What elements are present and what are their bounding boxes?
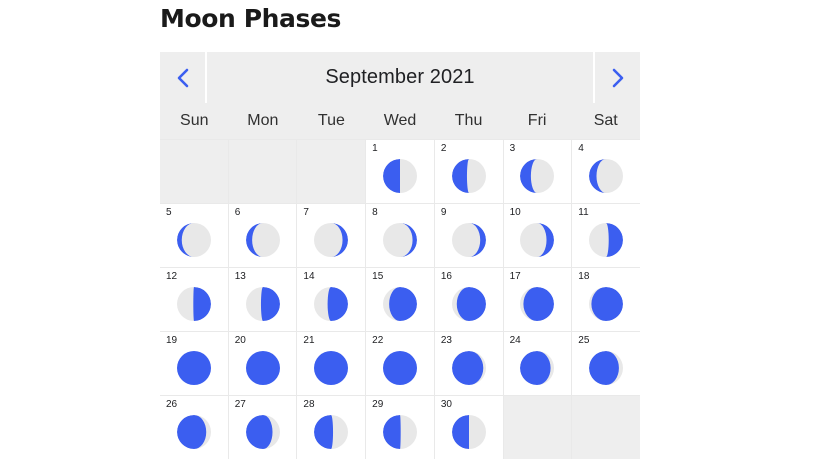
weekday-wed: Wed xyxy=(366,103,435,139)
moon-phase-icon xyxy=(160,412,228,452)
day-cell-empty xyxy=(160,140,228,203)
next-month-button[interactable] xyxy=(593,52,640,103)
day-number: 10 xyxy=(510,208,521,218)
day-number: 19 xyxy=(166,336,177,346)
day-cell[interactable]: 26 xyxy=(160,396,228,459)
day-cell[interactable]: 17 xyxy=(504,268,572,331)
chevron-right-icon xyxy=(610,66,626,90)
day-cell[interactable]: 10 xyxy=(504,204,572,267)
day-cell[interactable]: 18 xyxy=(572,268,640,331)
moon-phase-icon xyxy=(229,220,297,260)
day-cell-empty xyxy=(229,140,297,203)
weekday-header-row: SunMonTueWedThuFriSat xyxy=(160,103,640,139)
day-cell[interactable]: 28 xyxy=(297,396,365,459)
moon-phase-icon xyxy=(229,284,297,324)
weekday-sun: Sun xyxy=(160,103,229,139)
moon-phase-icon xyxy=(160,284,228,324)
day-cell[interactable]: 19 xyxy=(160,332,228,395)
day-cell-empty xyxy=(572,396,640,459)
day-number: 26 xyxy=(166,400,177,410)
moon-phase-icon xyxy=(366,348,434,388)
moon-phase-icon xyxy=(366,220,434,260)
moon-phase-icon xyxy=(366,284,434,324)
day-number: 13 xyxy=(235,272,246,282)
moon-phase-icon xyxy=(504,220,572,260)
day-cell-empty xyxy=(504,396,572,459)
weekday-fri: Fri xyxy=(503,103,572,139)
day-cell[interactable]: 7 xyxy=(297,204,365,267)
day-cell[interactable]: 6 xyxy=(229,204,297,267)
moon-phase-icon xyxy=(297,348,365,388)
weekday-mon: Mon xyxy=(229,103,298,139)
moon-phase-icon xyxy=(366,412,434,452)
moon-phase-icon xyxy=(160,348,228,388)
day-cell[interactable]: 12 xyxy=(160,268,228,331)
weekday-tue: Tue xyxy=(297,103,366,139)
month-label: September 2021 xyxy=(207,52,593,103)
day-number: 11 xyxy=(578,208,588,218)
weekday-thu: Thu xyxy=(434,103,503,139)
day-number: 25 xyxy=(578,336,589,346)
moon-phase-icon xyxy=(229,412,297,452)
moon-phase-icon xyxy=(297,284,365,324)
moon-phase-calendar: September 2021 SunMonTueWedThuFriSat 123… xyxy=(160,52,640,459)
moon-phase-icon xyxy=(572,284,640,324)
day-number: 17 xyxy=(510,272,521,282)
moon-phase-icon xyxy=(504,284,572,324)
day-cell[interactable]: 3 xyxy=(504,140,572,203)
day-number: 4 xyxy=(578,144,584,154)
day-grid: 1234567891011121314151617181920212223242… xyxy=(160,139,640,459)
page-title: Moon Phases xyxy=(160,4,341,33)
moon-phase-icon xyxy=(297,412,365,452)
day-cell[interactable]: 27 xyxy=(229,396,297,459)
day-number: 8 xyxy=(372,208,378,218)
day-number: 22 xyxy=(372,336,383,346)
moon-phase-icon xyxy=(435,156,503,196)
moon-phase-icon xyxy=(572,348,640,388)
day-number: 1 xyxy=(372,144,378,154)
day-cell[interactable]: 4 xyxy=(572,140,640,203)
day-cell[interactable]: 16 xyxy=(435,268,503,331)
day-number: 16 xyxy=(441,272,452,282)
moon-phase-icon xyxy=(435,220,503,260)
day-number: 12 xyxy=(166,272,177,282)
day-number: 28 xyxy=(303,400,314,410)
day-number: 20 xyxy=(235,336,246,346)
day-cell[interactable]: 25 xyxy=(572,332,640,395)
moon-phase-icon xyxy=(504,156,572,196)
day-cell[interactable]: 21 xyxy=(297,332,365,395)
day-cell[interactable]: 30 xyxy=(435,396,503,459)
day-cell[interactable]: 24 xyxy=(504,332,572,395)
day-number: 3 xyxy=(510,144,516,154)
moon-phase-icon xyxy=(366,156,434,196)
day-cell[interactable]: 8 xyxy=(366,204,434,267)
day-number: 23 xyxy=(441,336,452,346)
moon-phase-icon xyxy=(572,156,640,196)
day-number: 6 xyxy=(235,208,241,218)
day-number: 9 xyxy=(441,208,447,218)
day-cell[interactable]: 2 xyxy=(435,140,503,203)
day-number: 21 xyxy=(303,336,314,346)
day-cell[interactable]: 23 xyxy=(435,332,503,395)
day-number: 30 xyxy=(441,400,452,410)
moon-phase-icon xyxy=(160,220,228,260)
moon-phase-icon xyxy=(297,220,365,260)
day-cell[interactable]: 20 xyxy=(229,332,297,395)
day-cell[interactable]: 13 xyxy=(229,268,297,331)
day-number: 18 xyxy=(578,272,589,282)
moon-phase-icon xyxy=(504,348,572,388)
calendar-header: September 2021 xyxy=(160,52,640,103)
day-number: 5 xyxy=(166,208,172,218)
day-number: 14 xyxy=(303,272,314,282)
moon-phase-icon xyxy=(435,348,503,388)
day-cell[interactable]: 11 xyxy=(572,204,640,267)
day-cell[interactable]: 14 xyxy=(297,268,365,331)
moon-phase-icon xyxy=(229,348,297,388)
day-number: 24 xyxy=(510,336,521,346)
day-cell[interactable]: 29 xyxy=(366,396,434,459)
day-number: 15 xyxy=(372,272,383,282)
day-cell[interactable]: 1 xyxy=(366,140,434,203)
chevron-left-icon xyxy=(175,66,191,90)
moon-phase-icon xyxy=(435,284,503,324)
day-number: 27 xyxy=(235,400,246,410)
day-cell[interactable]: 22 xyxy=(366,332,434,395)
weekday-sat: Sat xyxy=(571,103,640,139)
day-cell[interactable]: 9 xyxy=(435,204,503,267)
day-number: 7 xyxy=(303,208,309,218)
day-number: 2 xyxy=(441,144,447,154)
day-cell[interactable]: 15 xyxy=(366,268,434,331)
moon-phase-icon xyxy=(572,220,640,260)
moon-phase-icon xyxy=(435,412,503,452)
prev-month-button[interactable] xyxy=(160,52,207,103)
day-number: 29 xyxy=(372,400,383,410)
day-cell-empty xyxy=(297,140,365,203)
day-cell[interactable]: 5 xyxy=(160,204,228,267)
